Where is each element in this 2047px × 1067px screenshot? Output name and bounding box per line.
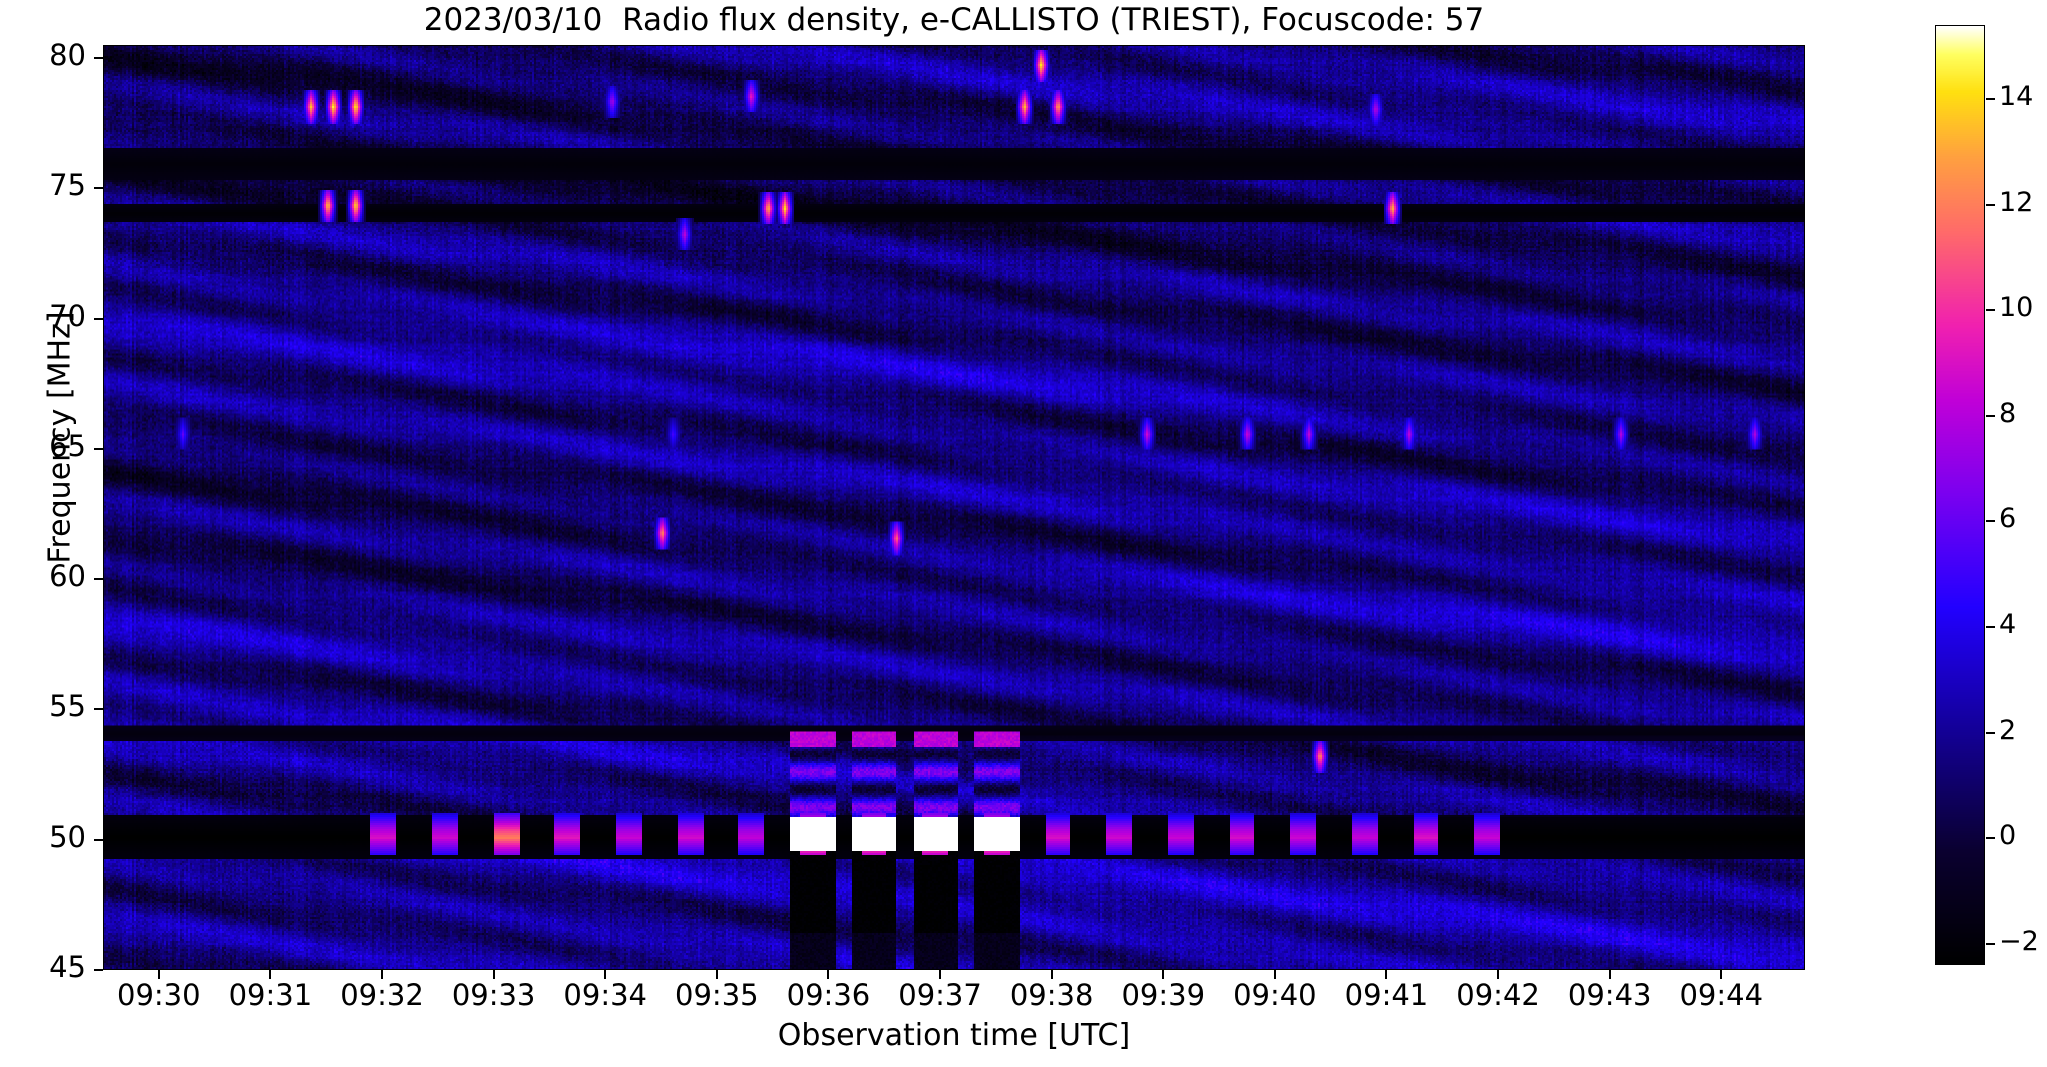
y-tick-label: 60 [0, 559, 86, 593]
colorbar-tick-label: 8 [1999, 398, 2016, 429]
colorbar-tick-label: 0 [1999, 820, 2016, 851]
colorbar-tick-mark [1986, 415, 1995, 417]
colorbar-tick-label: 4 [1999, 609, 2016, 640]
colorbar [1935, 25, 1985, 965]
y-tick-label: 65 [0, 429, 86, 463]
y-tick-label: 45 [0, 950, 86, 984]
x-tick-label: 09:44 [1641, 978, 1801, 1012]
y-tick-mark [94, 187, 103, 189]
figure-title: 2023/03/10 Radio flux density, e-CALLIST… [0, 2, 1908, 38]
colorbar-tick-mark [1986, 626, 1995, 628]
y-tick-mark [94, 839, 103, 841]
colorbar-tick-label: −2 [1999, 926, 2039, 957]
y-tick-mark [94, 969, 103, 971]
y-tick-mark [94, 708, 103, 710]
spectrogram-figure: 2023/03/10 Radio flux density, e-CALLIST… [0, 0, 2047, 1067]
colorbar-tick-label: 12 [1999, 187, 2033, 218]
y-tick-label: 70 [0, 299, 86, 333]
colorbar-tick-mark [1986, 520, 1995, 522]
colorbar-tick-mark [1986, 943, 1995, 945]
y-tick-label: 55 [0, 689, 86, 723]
colorbar-tick-mark [1986, 837, 1995, 839]
x-axis-label: Observation time [UTC] [103, 1018, 1805, 1053]
spectrogram-plot-area [103, 45, 1805, 970]
colorbar-tick-label: 2 [1999, 715, 2016, 746]
colorbar-gradient [1936, 26, 1984, 964]
colorbar-tick-mark [1986, 98, 1995, 100]
spectrogram-image [104, 46, 1805, 970]
colorbar-tick-label: 14 [1999, 81, 2033, 112]
colorbar-tick-label: 10 [1999, 292, 2033, 323]
y-tick-mark [94, 448, 103, 450]
colorbar-tick-label: 6 [1999, 503, 2016, 534]
y-tick-label: 80 [0, 38, 86, 72]
y-tick-label: 75 [0, 168, 86, 202]
colorbar-tick-mark [1986, 309, 1995, 311]
y-tick-mark [94, 318, 103, 320]
colorbar-tick-mark [1986, 732, 1995, 734]
y-tick-label: 50 [0, 820, 86, 854]
y-tick-mark [94, 578, 103, 580]
colorbar-tick-mark [1986, 204, 1995, 206]
y-tick-mark [94, 57, 103, 59]
